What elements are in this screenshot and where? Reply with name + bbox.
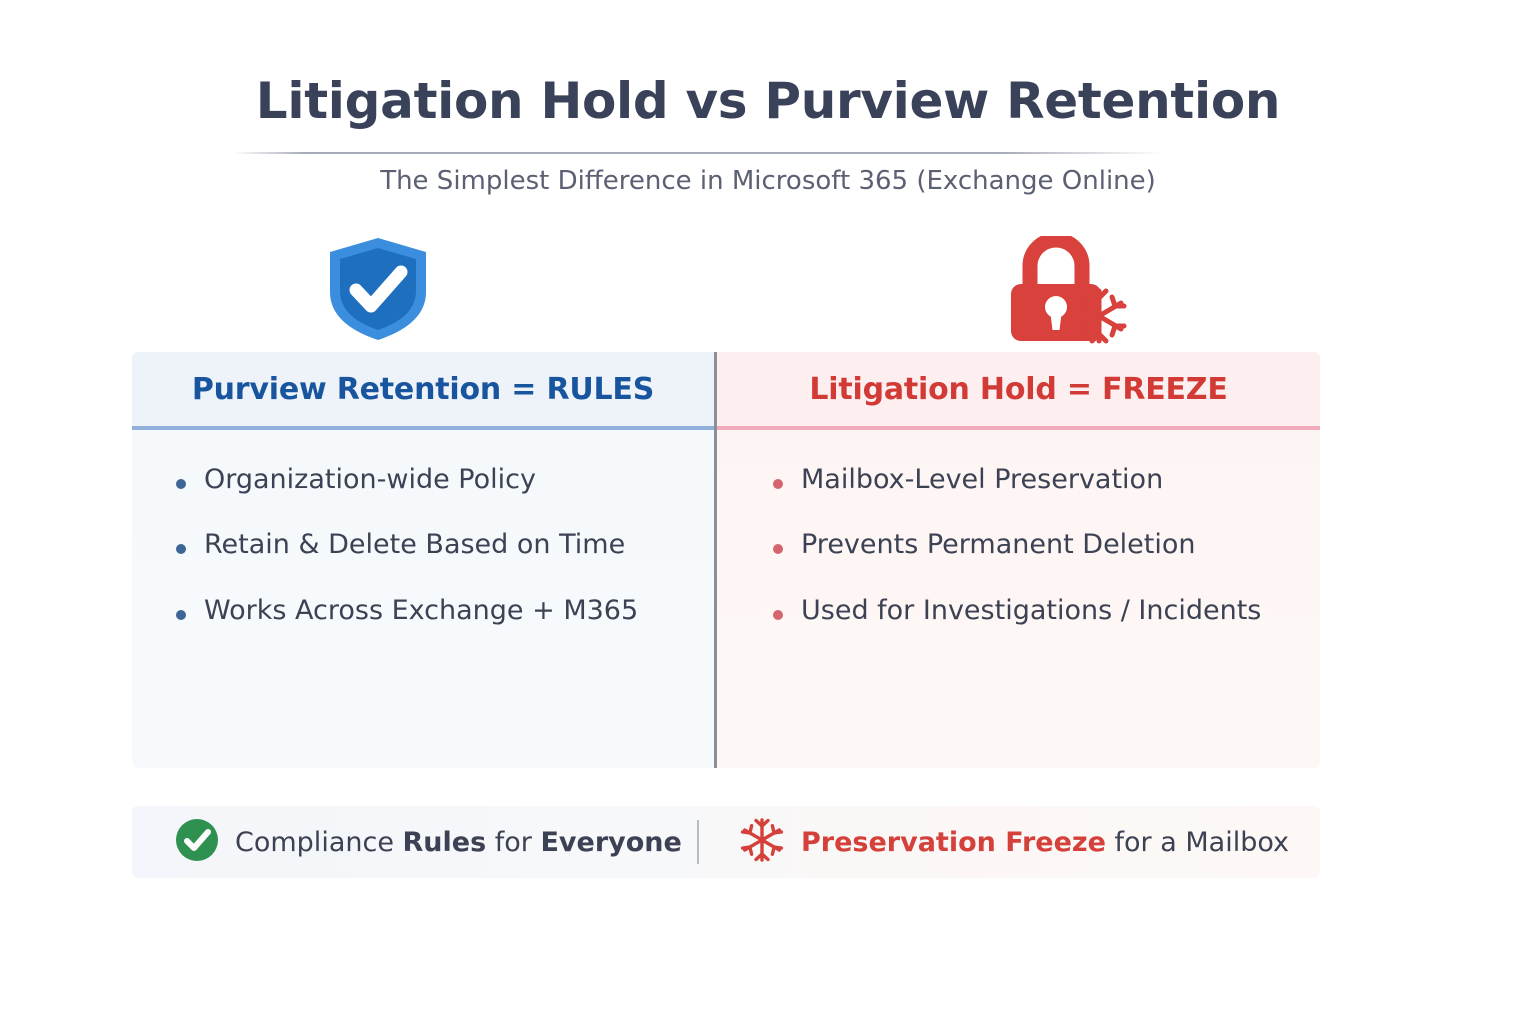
summary-preservation: Preservation Freeze for a Mailbox (699, 817, 1320, 868)
summary-text-bold-everyone: Everyone (540, 827, 681, 858)
list-item-label: Prevents Permanent Deletion (801, 531, 1196, 559)
list-item-label: Works Across Exchange + M365 (204, 597, 638, 625)
list-item-label: Retain & Delete Based on Time (204, 531, 625, 559)
bullet-dot-icon (176, 544, 186, 554)
comparison-panel: Purview Retention = RULES Organization-w… (132, 352, 1320, 768)
list-item: Works Across Exchange + M365 (176, 597, 714, 662)
column-header-litigation: Litigation Hold = FREEZE (717, 352, 1320, 430)
icon-row (0, 236, 1536, 348)
purview-bullet-list: Organization-wide Policy Retain & Delete… (132, 430, 714, 662)
page-title: Litigation Hold vs Purview Retention (0, 0, 1536, 130)
list-item-label: Mailbox-Level Preservation (801, 466, 1163, 494)
shield-check-icon (326, 236, 430, 342)
summary-bar: Compliance Rules for Everyone Preservati… (132, 806, 1320, 878)
summary-preservation-text: Preservation Freeze for a Mailbox (801, 827, 1289, 858)
list-item: Organization-wide Policy (176, 466, 714, 531)
summary-text-bold-preservation: Preservation Freeze (801, 827, 1106, 858)
list-item: Mailbox-Level Preservation (773, 466, 1320, 531)
summary-text-part: Compliance (235, 827, 403, 858)
column-purview-retention: Purview Retention = RULES Organization-w… (132, 352, 714, 768)
list-item: Retain & Delete Based on Time (176, 531, 714, 596)
list-item-label: Organization-wide Policy (204, 466, 536, 494)
column-header-litigation-text: Litigation Hold = FREEZE (809, 372, 1227, 407)
summary-compliance: Compliance Rules for Everyone (132, 818, 697, 867)
summary-text-part: for a Mailbox (1106, 827, 1289, 858)
bullet-dot-icon (176, 610, 186, 620)
bullet-dot-icon (773, 610, 783, 620)
summary-compliance-text: Compliance Rules for Everyone (235, 827, 682, 858)
title-divider-rule (232, 152, 1165, 154)
column-litigation-hold: Litigation Hold = FREEZE Mailbox-Level P… (717, 352, 1320, 768)
lock-snowflake-icon (1000, 236, 1132, 344)
summary-text-bold-rules: Rules (403, 827, 487, 858)
list-item-label: Used for Investigations / Incidents (801, 597, 1261, 625)
page-subtitle: The Simplest Difference in Microsoft 365… (0, 166, 1536, 196)
page-header: Litigation Hold vs Purview Retention The… (0, 0, 1536, 130)
summary-text-part: for (486, 827, 540, 858)
column-header-purview: Purview Retention = RULES (132, 352, 714, 430)
column-header-purview-text: Purview Retention = RULES (192, 372, 654, 407)
bullet-dot-icon (773, 544, 783, 554)
snowflake-icon (739, 817, 785, 868)
bullet-dot-icon (176, 479, 186, 489)
bullet-dot-icon (773, 479, 783, 489)
green-check-circle-icon (175, 818, 219, 867)
list-item: Used for Investigations / Incidents (773, 597, 1320, 662)
list-item: Prevents Permanent Deletion (773, 531, 1320, 596)
litigation-bullet-list: Mailbox-Level Preservation Prevents Perm… (717, 430, 1320, 662)
